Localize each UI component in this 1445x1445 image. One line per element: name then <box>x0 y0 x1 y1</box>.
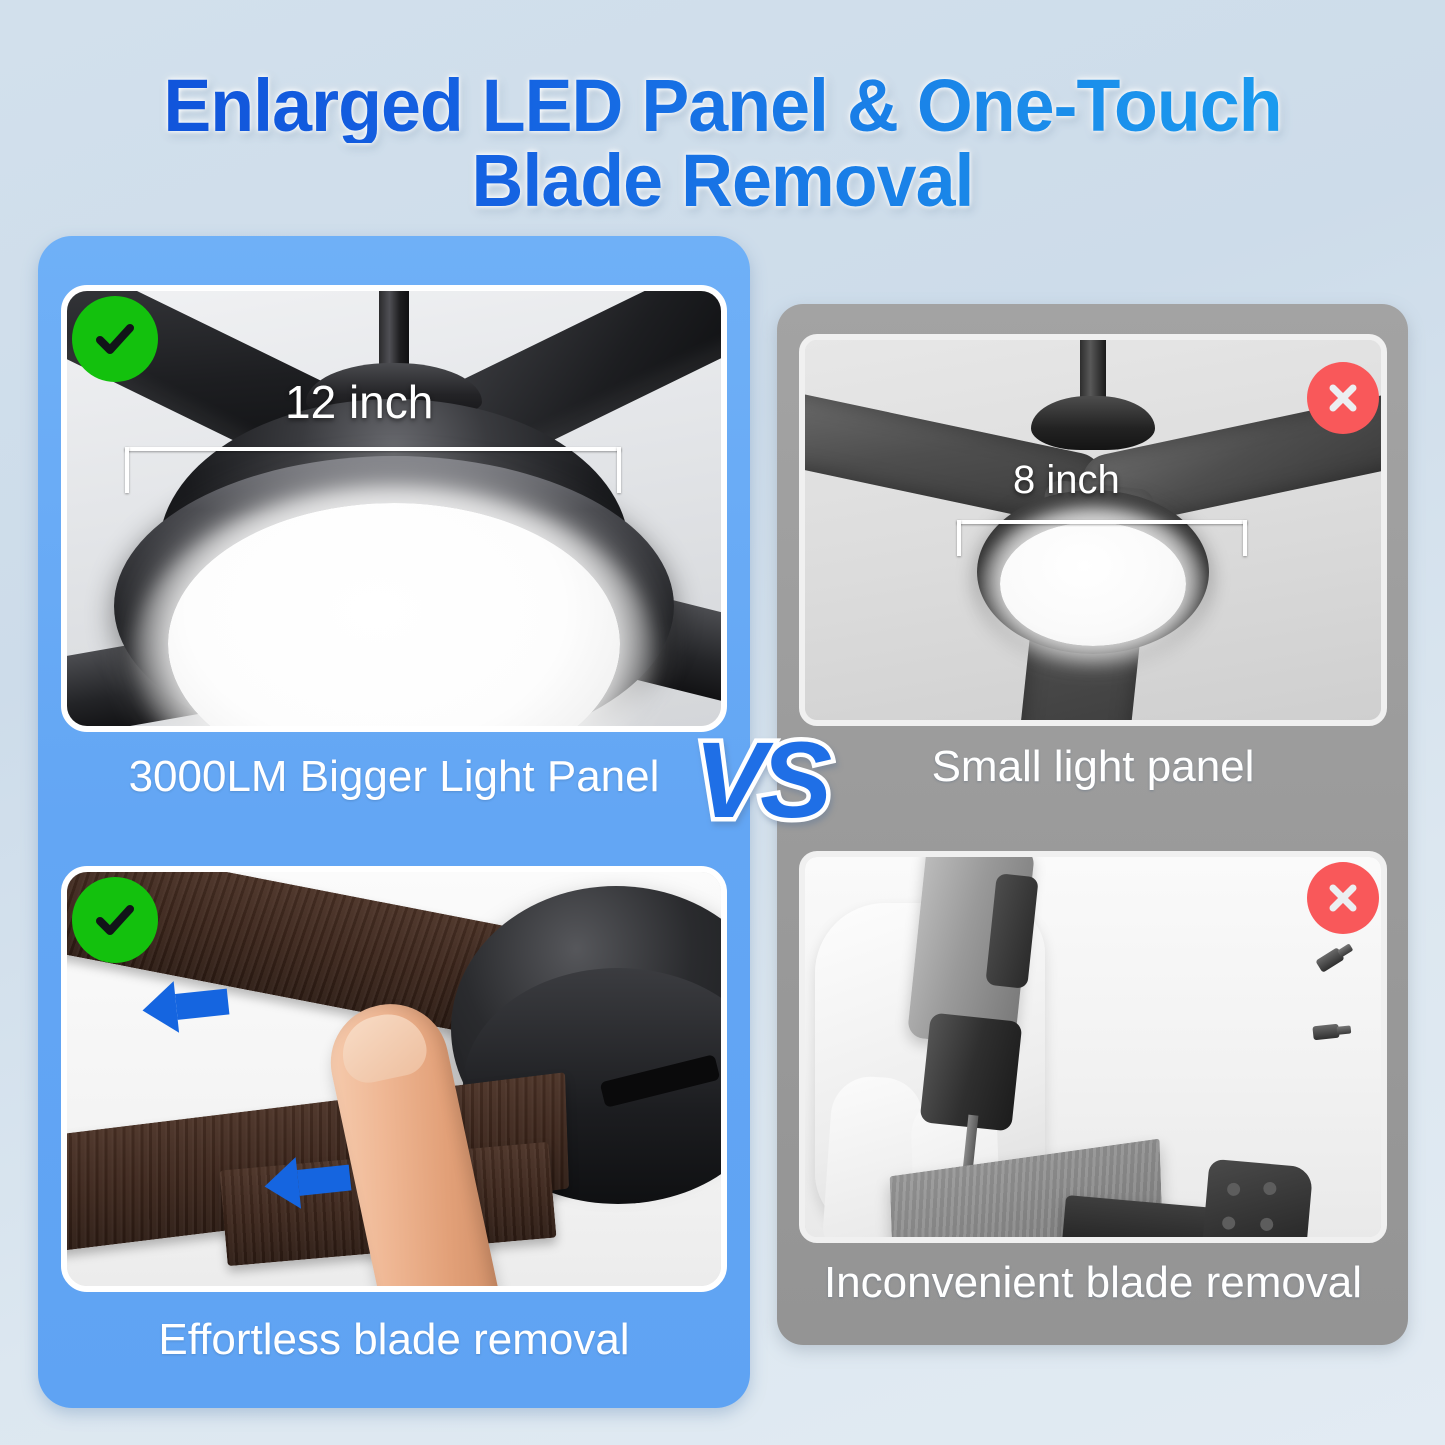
check-badge <box>72 877 158 963</box>
caption-effortless-blade-removal: Effortless blade removal <box>61 1315 727 1365</box>
close-icon <box>1321 876 1365 920</box>
vs-badge: VS <box>694 726 826 834</box>
downrod <box>379 287 409 373</box>
fan-illustration-large <box>67 291 721 726</box>
fingernail <box>336 1007 431 1087</box>
close-icon <box>1321 376 1365 420</box>
loose-screw <box>1312 1024 1339 1041</box>
downrod <box>1080 336 1106 404</box>
check-icon <box>89 894 141 946</box>
fan-canopy <box>1031 396 1155 450</box>
caption-inconvenient-blade-removal: Inconvenient blade removal <box>789 1258 1397 1308</box>
photo-bigger-light-panel: 12 inch <box>61 285 727 732</box>
infographic-root: Enlarged LED Panel & One-Touch Blade Rem… <box>0 0 1445 1445</box>
photo-effortless-blade-removal <box>61 866 727 1292</box>
led-light-panel-small <box>1000 522 1186 646</box>
drill-chuck <box>920 1012 1023 1131</box>
blade-bracket-end <box>1201 1159 1314 1243</box>
page-title: Enlarged LED Panel & One-Touch Blade Rem… <box>0 68 1445 219</box>
caption-bigger-light-panel: 3000LM Bigger Light Panel <box>61 752 727 802</box>
dimension-label-good: 12 inch <box>285 375 433 429</box>
loose-screw <box>1315 947 1344 973</box>
dimension-label-bad: 8 inch <box>1013 458 1120 503</box>
cross-badge <box>1307 362 1379 434</box>
cross-badge <box>1307 862 1379 934</box>
blade-removal-illustration <box>67 872 721 1286</box>
check-icon <box>89 313 141 365</box>
photo-small-light-panel: 8 inch <box>799 334 1387 726</box>
fan-illustration-small <box>805 340 1381 720</box>
caption-small-light-panel: Small light panel <box>799 742 1387 792</box>
drill-illustration <box>805 857 1381 1237</box>
title-line-1: Enlarged LED Panel & One-Touch <box>22 68 1424 143</box>
check-badge <box>72 296 158 382</box>
title-line-2: Blade Removal <box>22 143 1424 218</box>
photo-inconvenient-blade-removal <box>799 851 1387 1243</box>
